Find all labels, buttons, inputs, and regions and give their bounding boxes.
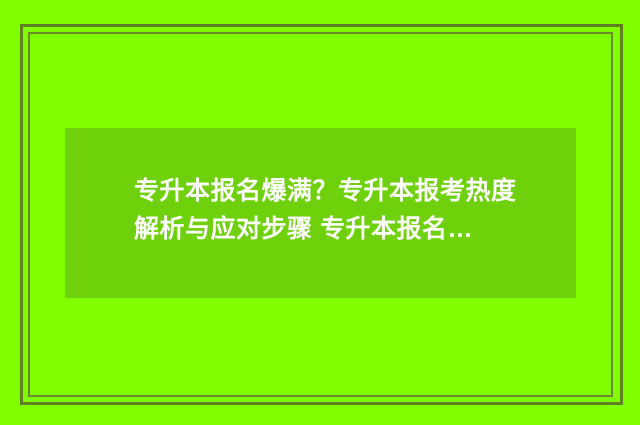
placeholder-card-canvas: 专升本报名爆满？专升本报考热度 解析与应对步骤 专升本报名… bbox=[0, 0, 640, 425]
headline-line-2: 解析与应对步骤 专升本报名… bbox=[134, 210, 554, 248]
headline-text-block: 专升本报名爆满？专升本报考热度 解析与应对步骤 专升本报名… bbox=[134, 172, 554, 248]
headline-line-1: 专升本报名爆满？专升本报考热度 bbox=[134, 172, 554, 210]
